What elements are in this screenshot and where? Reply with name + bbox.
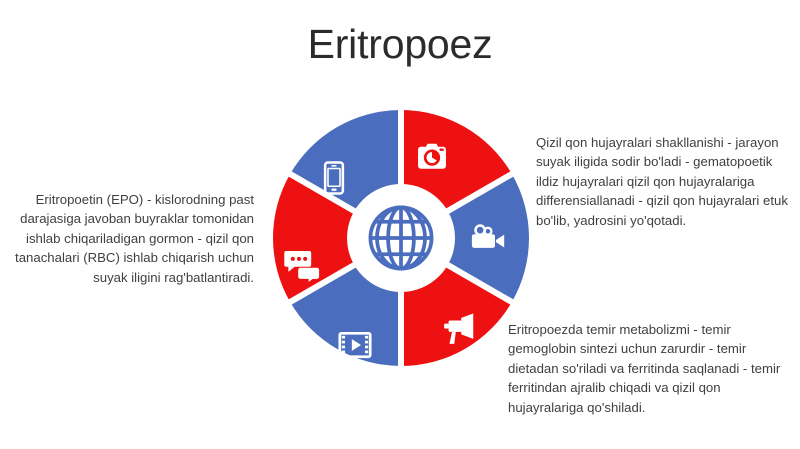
- page-title: Eritropoez: [0, 18, 800, 70]
- globe-icon: [370, 207, 431, 268]
- callout-left: Eritropoetin (EPO) - kislorodning past d…: [14, 190, 254, 287]
- slide-canvas: Eritropoez: [0, 0, 800, 449]
- callout-bottom-right: Eritropoezda temir metabolizmi - temir g…: [508, 320, 794, 417]
- aperture-diagram: [265, 102, 537, 374]
- callout-top-right: Qizil qon hujayralari shakllanishi - jar…: [536, 133, 791, 230]
- camera-icon: [418, 144, 446, 169]
